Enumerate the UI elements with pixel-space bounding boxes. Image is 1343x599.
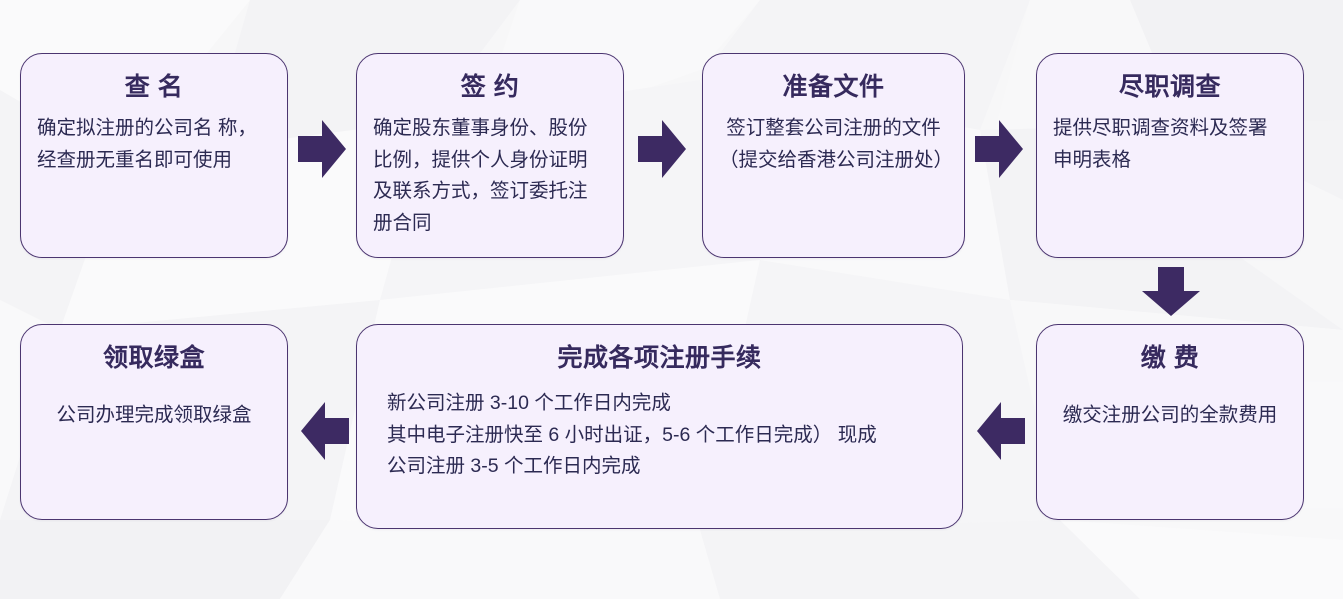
flow-node-step-5[interactable]: 缴 费 缴交注册公司的全款费用 (1036, 324, 1304, 520)
flow-node-step-7[interactable]: 领取绿盒 公司办理完成领取绿盒 (20, 324, 288, 520)
flow-node-title: 准备文件 (719, 72, 948, 103)
flow-node-body: 提供尽职调查资料及签署 申明表格 (1053, 113, 1287, 176)
flow-node-body: 缴交注册公司的全款费用 (1053, 400, 1287, 432)
flow-node-step-6[interactable]: 完成各项注册手续 新公司注册 3-10 个工作日内完成 其中电子注册快至 6 小… (356, 324, 963, 529)
flow-node-body: 确定拟注册的公司名 称， 经查册无重名即可使用 (37, 113, 271, 176)
flow-node-step-2[interactable]: 签 约 确定股东董事身份、股份 比例，提供个人身份证明 及联系方式，签订委托注 … (356, 53, 624, 258)
arrow-right-icon-step1-step2 (298, 118, 346, 180)
flow-node-body: 公司办理完成领取绿盒 (37, 400, 271, 432)
flowchart-canvas: 查 名 确定拟注册的公司名 称， 经查册无重名即可使用 签 约 确定股东董事身份… (0, 0, 1343, 599)
flow-node-step-1[interactable]: 查 名 确定拟注册的公司名 称， 经查册无重名即可使用 (20, 53, 288, 258)
arrow-right-icon-step2-step3 (638, 118, 686, 180)
flow-node-body: 签订整套公司注册的文件 （提交给香港公司注册处） (719, 113, 948, 176)
arrow-left-icon-step5-step6 (975, 400, 1025, 462)
arrow-left-icon-step6-step7 (299, 400, 349, 462)
flow-node-title: 完成各项注册手续 (373, 343, 946, 374)
arrow-down-icon-step4-step5 (1140, 267, 1202, 317)
flow-node-title: 领取绿盒 (37, 343, 271, 374)
flow-node-title: 查 名 (37, 72, 271, 103)
flow-node-step-3[interactable]: 准备文件 签订整套公司注册的文件 （提交给香港公司注册处） (702, 53, 965, 258)
flow-node-step-4[interactable]: 尽职调查 提供尽职调查资料及签署 申明表格 (1036, 53, 1304, 258)
flow-node-title: 尽职调查 (1053, 72, 1287, 103)
flow-node-body: 新公司注册 3-10 个工作日内完成 其中电子注册快至 6 小时出证，5-6 个… (373, 388, 946, 483)
flow-node-title: 缴 费 (1053, 343, 1287, 374)
flow-node-title: 签 约 (373, 72, 607, 103)
arrow-right-icon-step3-step4 (975, 118, 1023, 180)
flow-node-body: 确定股东董事身份、股份 比例，提供个人身份证明 及联系方式，签订委托注 册合同 (373, 113, 607, 239)
